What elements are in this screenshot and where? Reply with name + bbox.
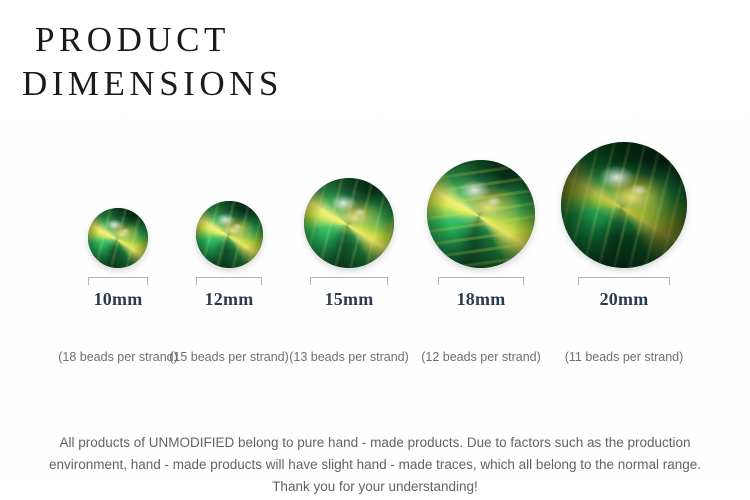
bead-sphere-18mm (427, 160, 535, 268)
bead-column-10mm: 10mm (68, 208, 168, 310)
bead-caption-20mm: (11 beads per strand) (565, 350, 684, 364)
bead-texture-layer (427, 160, 535, 268)
size-label-15mm: 15mm (325, 289, 374, 310)
size-label-10mm: 10mm (94, 289, 143, 310)
bead-column-20mm: 20mm (541, 142, 707, 310)
size-label-20mm: 20mm (600, 289, 649, 310)
bead-caption-10mm: (18 beads per strand) (58, 350, 178, 364)
bead-texture-layer (561, 142, 687, 268)
dimension-bracket-10mm (88, 277, 148, 285)
page-title-line-2: DIMENSIONS (0, 62, 420, 106)
bead-texture-layer (88, 208, 148, 268)
dimension-bracket-18mm (438, 277, 524, 285)
bead-column-15mm: 15mm (284, 178, 414, 310)
page-title: PRODUCT DIMENSIONS (0, 18, 420, 106)
bead-column-18mm: 18mm (407, 160, 555, 310)
bead-sphere-10mm (88, 208, 148, 268)
dimension-bracket-12mm (196, 277, 262, 285)
size-label-18mm: 18mm (457, 289, 506, 310)
size-label-12mm: 12mm (205, 289, 254, 310)
bead-texture-layer (304, 178, 394, 268)
bead-caption-18mm: (12 beads per strand) (421, 350, 541, 364)
bead-sphere-12mm (196, 201, 263, 268)
bead-caption-12mm: (15 beads per strand) (169, 350, 289, 364)
bead-size-comparison-row: 10mm12mm15mm18mm20mm (0, 150, 750, 310)
disclaimer-text: All products of UNMODIFIED belong to pur… (35, 432, 715, 498)
bead-sphere-15mm (304, 178, 394, 268)
bead-texture-layer (196, 201, 263, 268)
bead-column-12mm: 12mm (176, 201, 283, 310)
dimension-bracket-15mm (310, 277, 388, 285)
dimension-bracket-20mm (578, 277, 670, 285)
product-dimensions-infographic: PRODUCT DIMENSIONS 10mm12mm15mm18mm20mm … (0, 0, 750, 500)
bead-sphere-20mm (561, 142, 687, 268)
bead-caption-row: (18 beads per strand)(15 beads per stran… (0, 350, 750, 370)
page-title-line-1: PRODUCT (0, 18, 420, 62)
bead-caption-15mm: (13 beads per strand) (289, 350, 409, 364)
